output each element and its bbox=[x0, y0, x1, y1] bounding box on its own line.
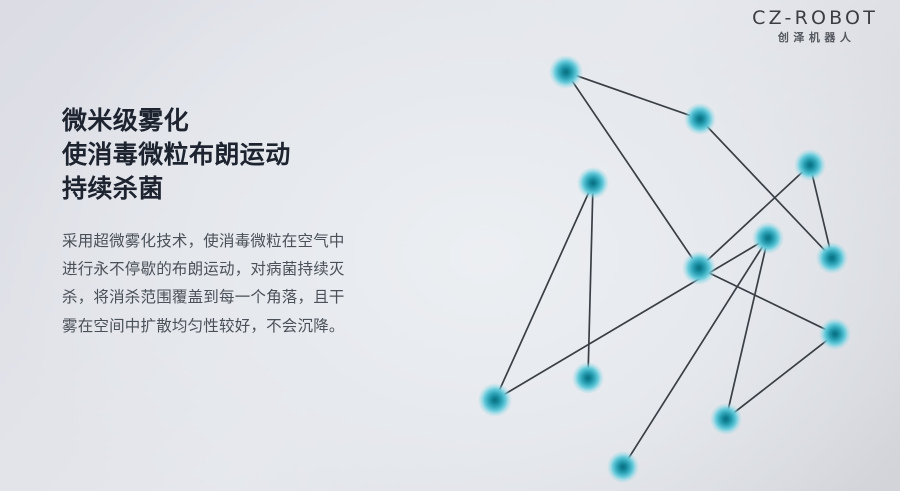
body-line-3: 杀，将消杀范围覆盖到每一个角落，且干 bbox=[62, 284, 442, 312]
network-node bbox=[607, 451, 639, 483]
network-node bbox=[682, 251, 716, 285]
brand-logo: CZ-ROBOT 创泽机器人 bbox=[752, 9, 878, 44]
logo-subtitle: 创泽机器人 bbox=[752, 33, 878, 44]
page-title: 微米级雾化 使消毒微粒布朗运动 持续杀菌 bbox=[62, 104, 482, 206]
network-edge bbox=[707, 272, 827, 330]
network-node bbox=[577, 167, 609, 199]
network-node bbox=[684, 103, 716, 135]
network-node bbox=[819, 318, 851, 350]
body-line-4: 雾在空间中扩散均匀性较好，不会沉降。 bbox=[62, 313, 442, 341]
network-node bbox=[710, 403, 742, 435]
network-edge bbox=[499, 191, 590, 392]
network-edge bbox=[503, 243, 760, 396]
slide-canvas: CZ-ROBOT 创泽机器人 微米级雾化 使消毒微粒布朗运动 持续杀菌 采用超微… bbox=[0, 0, 900, 491]
network-node bbox=[478, 383, 512, 417]
headline-line-1: 微米级雾化 bbox=[62, 104, 482, 138]
network-node bbox=[752, 222, 784, 254]
network-edge bbox=[588, 192, 593, 369]
network-edge bbox=[575, 75, 692, 116]
network-edge bbox=[733, 339, 828, 413]
body-line-2: 进行永不停歇的布朗运动，对病菌持续灭 bbox=[62, 256, 442, 284]
network-node bbox=[549, 55, 583, 89]
network-node bbox=[816, 242, 848, 274]
network-edge bbox=[812, 174, 830, 250]
logo-wordmark: CZ-ROBOT bbox=[752, 9, 878, 29]
body-line-1: 采用超微雾化技术，使消毒微粒在空气中 bbox=[62, 228, 442, 256]
headline-line-2: 使消毒微粒布朗运动 bbox=[62, 138, 482, 172]
network-node bbox=[572, 362, 604, 394]
network-node bbox=[794, 149, 826, 181]
body-paragraph: 采用超微雾化技术，使消毒微粒在空气中 进行永不停歇的布朗运动，对病菌持续灭 杀，… bbox=[62, 228, 442, 341]
headline-line-3: 持续杀菌 bbox=[62, 172, 482, 206]
network-edge bbox=[728, 247, 766, 411]
